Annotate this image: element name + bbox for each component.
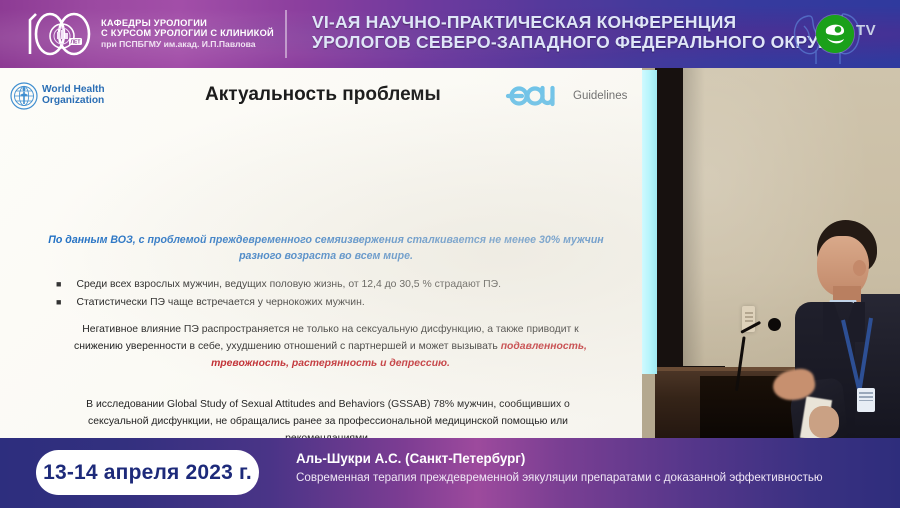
conference-date-badge: 13-14 апреля 2023 г. xyxy=(36,450,259,495)
bullet-text: Статистически ПЭ чаще встречается у черн… xyxy=(76,294,364,312)
list-item: ■ Статистически ПЭ чаще встречается у че… xyxy=(56,294,616,312)
department-name: КАФЕДРЫ УРОЛОГИИ С КУРСОМ УРОЛОГИИ С КЛИ… xyxy=(101,18,274,50)
conference-title-line-1: VI-АЯ НАУЧНО-ПРАКТИЧЕСКАЯ КОНФЕРЕНЦИЯ xyxy=(312,13,840,33)
who-emblem-icon xyxy=(10,82,38,110)
bullet-dot-icon: ■ xyxy=(56,294,61,312)
department-line-1: КАФЕДРЫ УРОЛОГИИ xyxy=(101,18,274,28)
channel-logo-icon xyxy=(816,15,854,53)
projection-screen-light-edge xyxy=(640,70,657,374)
conference-title-line-2: УРОЛОГОВ СЕВЕРО-ЗАПАДНОГО ФЕДЕРАЛЬНОГО О… xyxy=(312,33,840,53)
presenter-figure xyxy=(795,220,900,438)
presentation-slide: World Health Organization Актуальность п… xyxy=(0,68,642,438)
slide-bullet-list: ■ Среди всех взрослых мужчин, ведущих по… xyxy=(56,276,616,312)
conference-date-text: 13-14 апреля 2023 г. xyxy=(43,461,252,485)
screen-root: ЛЕТ КАФЕДРЫ УРОЛОГИИ С КУРСОМ УРОЛОГИИ С… xyxy=(0,0,900,508)
slide-lead-paragraph: По данным ВОЗ, с проблемой преждевременн… xyxy=(46,232,606,265)
department-line-3: при ПСПБГМУ им.акад. И.П.Павлова xyxy=(101,40,274,50)
slide-title: Актуальность проблемы xyxy=(205,84,441,106)
header-right-branding: TV xyxy=(782,0,900,68)
talk-title: Современная терапия преждевременной эяку… xyxy=(296,471,886,484)
slide-header-row: World Health Organization Актуальность п… xyxy=(0,76,642,118)
channel-tv-label: TV xyxy=(856,22,876,39)
svg-text:ЛЕТ: ЛЕТ xyxy=(71,40,81,46)
header-left-branding: ЛЕТ КАФЕДРЫ УРОЛОГИИ С КУРСОМ УРОЛОГИИ С… xyxy=(0,0,285,68)
header-divider xyxy=(285,10,287,58)
department-line-2: С КУРСОМ УРОЛОГИИ С КЛИНИКОЙ xyxy=(101,28,274,38)
list-item: ■ Среди всех взрослых мужчин, ведущих по… xyxy=(56,276,616,294)
bullet-text: Среди всех взрослых мужчин, ведущих поло… xyxy=(76,276,501,294)
eau-logo-icon xyxy=(505,83,560,109)
presenter-ear xyxy=(853,260,866,276)
microphone-head-icon xyxy=(768,318,781,331)
who-logo: World Health Organization xyxy=(10,82,105,110)
presenter-name-badge xyxy=(857,388,875,412)
bullet-dot-icon: ■ xyxy=(56,276,61,294)
conference-title: VI-АЯ НАУЧНО-ПРАКТИЧЕСКАЯ КОНФЕРЕНЦИЯ УР… xyxy=(312,13,840,52)
projection-screen-frame xyxy=(655,68,683,384)
eau-guidelines-logo: Guidelines xyxy=(505,83,627,109)
conference-video-frame[interactable]: World Health Organization Актуальность п… xyxy=(0,68,900,438)
who-logo-line-2: Organization xyxy=(42,96,105,107)
slide-impact-paragraph: Негативное влияние ПЭ распространяется н… xyxy=(58,322,603,373)
anniversary-100-years-logo: ЛЕТ xyxy=(22,8,94,60)
speaker-name: Аль-Шукри А.С. (Санкт-Петербург) xyxy=(296,451,886,466)
conference-header-bar: ЛЕТ КАФЕДРЫ УРОЛОГИИ С КУРСОМ УРОЛОГИИ С… xyxy=(0,0,900,68)
presenter-hand-holding xyxy=(809,406,839,438)
speaker-info: Аль-Шукри А.С. (Санкт-Петербург) Совреме… xyxy=(296,451,886,484)
eau-guidelines-label: Guidelines xyxy=(573,90,627,102)
slide-gssab-paragraph: В исследовании Global Study of Sexual At… xyxy=(68,397,588,438)
